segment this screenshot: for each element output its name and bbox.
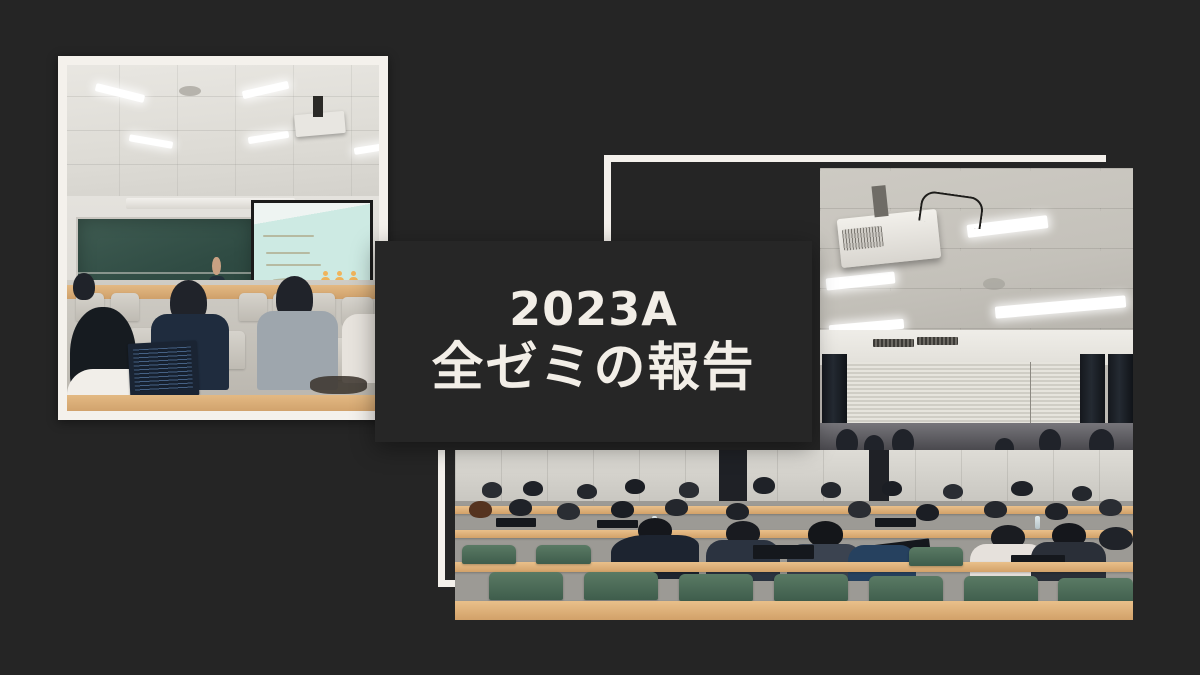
- student-head: [726, 503, 749, 520]
- student-head: [73, 273, 95, 301]
- student-head: [679, 482, 699, 497]
- student-head: [821, 482, 841, 497]
- student-desk: [67, 395, 379, 411]
- ceiling-speaker: [179, 86, 201, 96]
- lecture-seat: [964, 576, 1039, 603]
- air-vent: [873, 339, 914, 347]
- ceiling-projector-room-scene: [820, 168, 1133, 458]
- laptop: [753, 545, 814, 559]
- student-head: [1099, 527, 1133, 551]
- student-head: [625, 479, 645, 494]
- lecture-seat: [584, 572, 659, 599]
- student-head: [1072, 486, 1092, 501]
- lecture-seat: [774, 574, 849, 601]
- student-head: [523, 481, 543, 496]
- ceiling-projector-room-photo: [820, 168, 1133, 458]
- student-desk: [455, 530, 1133, 539]
- lecture-seat: [489, 572, 564, 599]
- title-year: 2023A: [509, 286, 678, 332]
- slide-text-line: [266, 252, 310, 254]
- student-head: [848, 501, 871, 518]
- lecture-seat: [679, 574, 754, 601]
- water-bottle: [1035, 516, 1040, 529]
- student-head: [611, 501, 634, 518]
- presentation-slide: 2023A 全ゼミの報告: [0, 0, 1200, 675]
- lecture-seat: [462, 545, 516, 564]
- student-head: [1099, 499, 1122, 516]
- photo-class-frame-left-bar: [438, 450, 445, 587]
- student-head: [482, 482, 502, 497]
- student-head: [943, 484, 963, 499]
- student-head: [1045, 503, 1068, 520]
- lecture-hall-scene: [67, 65, 379, 411]
- laptop: [496, 518, 537, 527]
- laptop: [875, 518, 916, 527]
- slide-text-line: [266, 264, 322, 266]
- air-vent: [917, 337, 958, 345]
- ceiling-tiles: [67, 65, 379, 207]
- student-body: [342, 314, 379, 383]
- classroom-students-scene: [455, 450, 1133, 620]
- classroom-students-photo: [455, 450, 1133, 620]
- student-head: [557, 503, 580, 520]
- student-head: [984, 501, 1007, 518]
- title-panel: 2023A 全ゼミの報告: [375, 241, 812, 442]
- lecture-seat: [909, 547, 963, 566]
- student-head: [916, 504, 939, 521]
- ceiling-speaker: [983, 278, 1005, 290]
- seating-rows: [455, 450, 1133, 620]
- laptop: [597, 520, 638, 529]
- page-title: 全ゼミの報告: [431, 341, 755, 396]
- student-head: [577, 484, 597, 499]
- slide-text-line: [263, 235, 314, 237]
- lecture-seat: [869, 576, 944, 603]
- projector-mount: [313, 96, 322, 117]
- student-head: [753, 477, 775, 494]
- student-head: [469, 501, 492, 518]
- lecture-seat: [536, 545, 590, 564]
- student-head: [509, 499, 532, 516]
- laptop: [128, 340, 199, 399]
- cable-bundle: [310, 376, 366, 393]
- student-head: [1011, 481, 1033, 496]
- student-desk: [455, 601, 1133, 620]
- student-head: [665, 499, 688, 516]
- photo-room-frame-top-bar: [604, 155, 1106, 162]
- student-head: [882, 481, 902, 496]
- lecture-hall-presentation-photo: [58, 56, 388, 420]
